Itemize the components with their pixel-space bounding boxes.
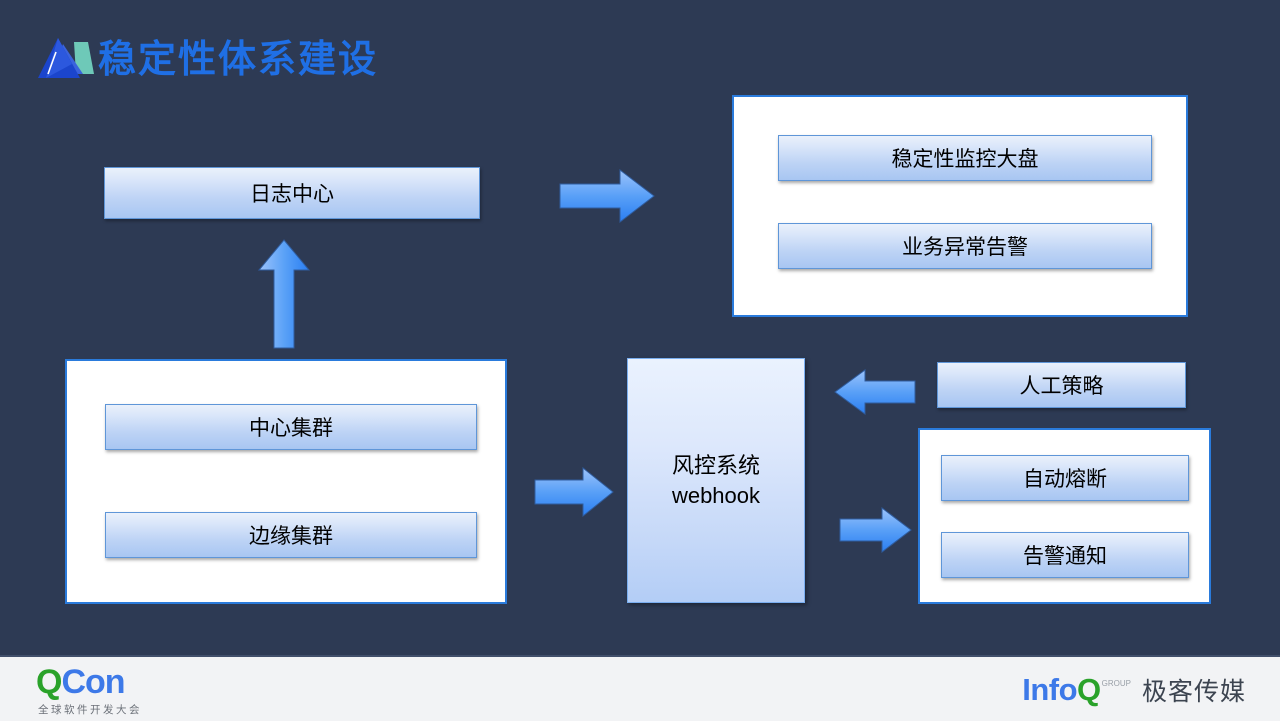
node-stability-dashboard-label: 稳定性监控大盘 <box>892 143 1039 173</box>
node-manual-policy-label: 人工策略 <box>1020 370 1104 400</box>
panel-actions: 自动熔断 告警通知 <box>918 428 1211 604</box>
qcon-wordmark: QCon <box>36 665 296 699</box>
node-business-alert[interactable]: 业务异常告警 <box>778 223 1152 269</box>
qcon-subtitle: 全球软件开发大会 <box>38 702 296 717</box>
panel-clusters: 中心集群 边缘集群 <box>65 359 507 604</box>
node-alert-notification-label: 告警通知 <box>1023 540 1107 570</box>
node-log-center[interactable]: 日志中心 <box>104 167 480 219</box>
node-auto-circuit-breaker[interactable]: 自动熔断 <box>941 455 1189 501</box>
node-alert-notification[interactable]: 告警通知 <box>941 532 1189 578</box>
node-log-center-label: 日志中心 <box>250 178 334 208</box>
node-central-cluster[interactable]: 中心集群 <box>105 404 477 450</box>
node-risk-control-line1: 风控系统 <box>672 451 760 481</box>
infoq-chinese-name: 极客传媒 <box>1142 672 1246 708</box>
node-risk-control-line2: webhook <box>672 481 760 511</box>
infoq-wordmark: InfoQ <box>1022 672 1100 708</box>
node-risk-control-label: 风控系统 webhook <box>672 451 760 511</box>
node-auto-circuit-breaker-label: 自动熔断 <box>1023 463 1107 493</box>
node-edge-cluster[interactable]: 边缘集群 <box>105 512 477 558</box>
node-business-alert-label: 业务异常告警 <box>902 231 1028 261</box>
infoq-info-letters: Info <box>1022 672 1077 707</box>
node-risk-control-system[interactable]: 风控系统 webhook <box>627 358 805 603</box>
node-manual-policy[interactable]: 人工策略 <box>937 362 1186 408</box>
qcon-logo: QCon 全球软件开发大会 <box>36 665 296 717</box>
arrow-cluster-to-log <box>255 238 315 357</box>
arrow-risk-to-action <box>838 506 914 559</box>
arrow-log-to-monitor <box>558 168 658 229</box>
arrow-cluster-to-risk <box>533 466 617 523</box>
infoq-tm-mark: GROUP <box>1102 679 1131 688</box>
slide-footer: QCon 全球软件开发大会 InfoQ GROUP 极客传媒 <box>0 655 1280 721</box>
arrow-manual-to-risk <box>833 368 917 421</box>
page-title: 稳定性体系建设 <box>98 26 378 94</box>
node-edge-cluster-label: 边缘集群 <box>249 520 333 550</box>
qcon-q-letter: Q <box>36 663 61 701</box>
infoq-logo: InfoQ GROUP 极客传媒 <box>1022 671 1246 709</box>
qcon-con-letters: Con <box>61 663 124 701</box>
mountain-logo-icon <box>36 34 98 86</box>
infoq-q-letter: Q <box>1077 672 1101 707</box>
panel-monitoring: 稳定性监控大盘 业务异常告警 <box>732 95 1188 317</box>
slide-header: 稳定性体系建设 <box>36 26 636 96</box>
node-central-cluster-label: 中心集群 <box>249 412 333 442</box>
slide-canvas: 稳定性体系建设 日志中心 稳定性监控大盘 业务异常告警 <box>0 0 1280 721</box>
node-stability-dashboard[interactable]: 稳定性监控大盘 <box>778 135 1152 181</box>
